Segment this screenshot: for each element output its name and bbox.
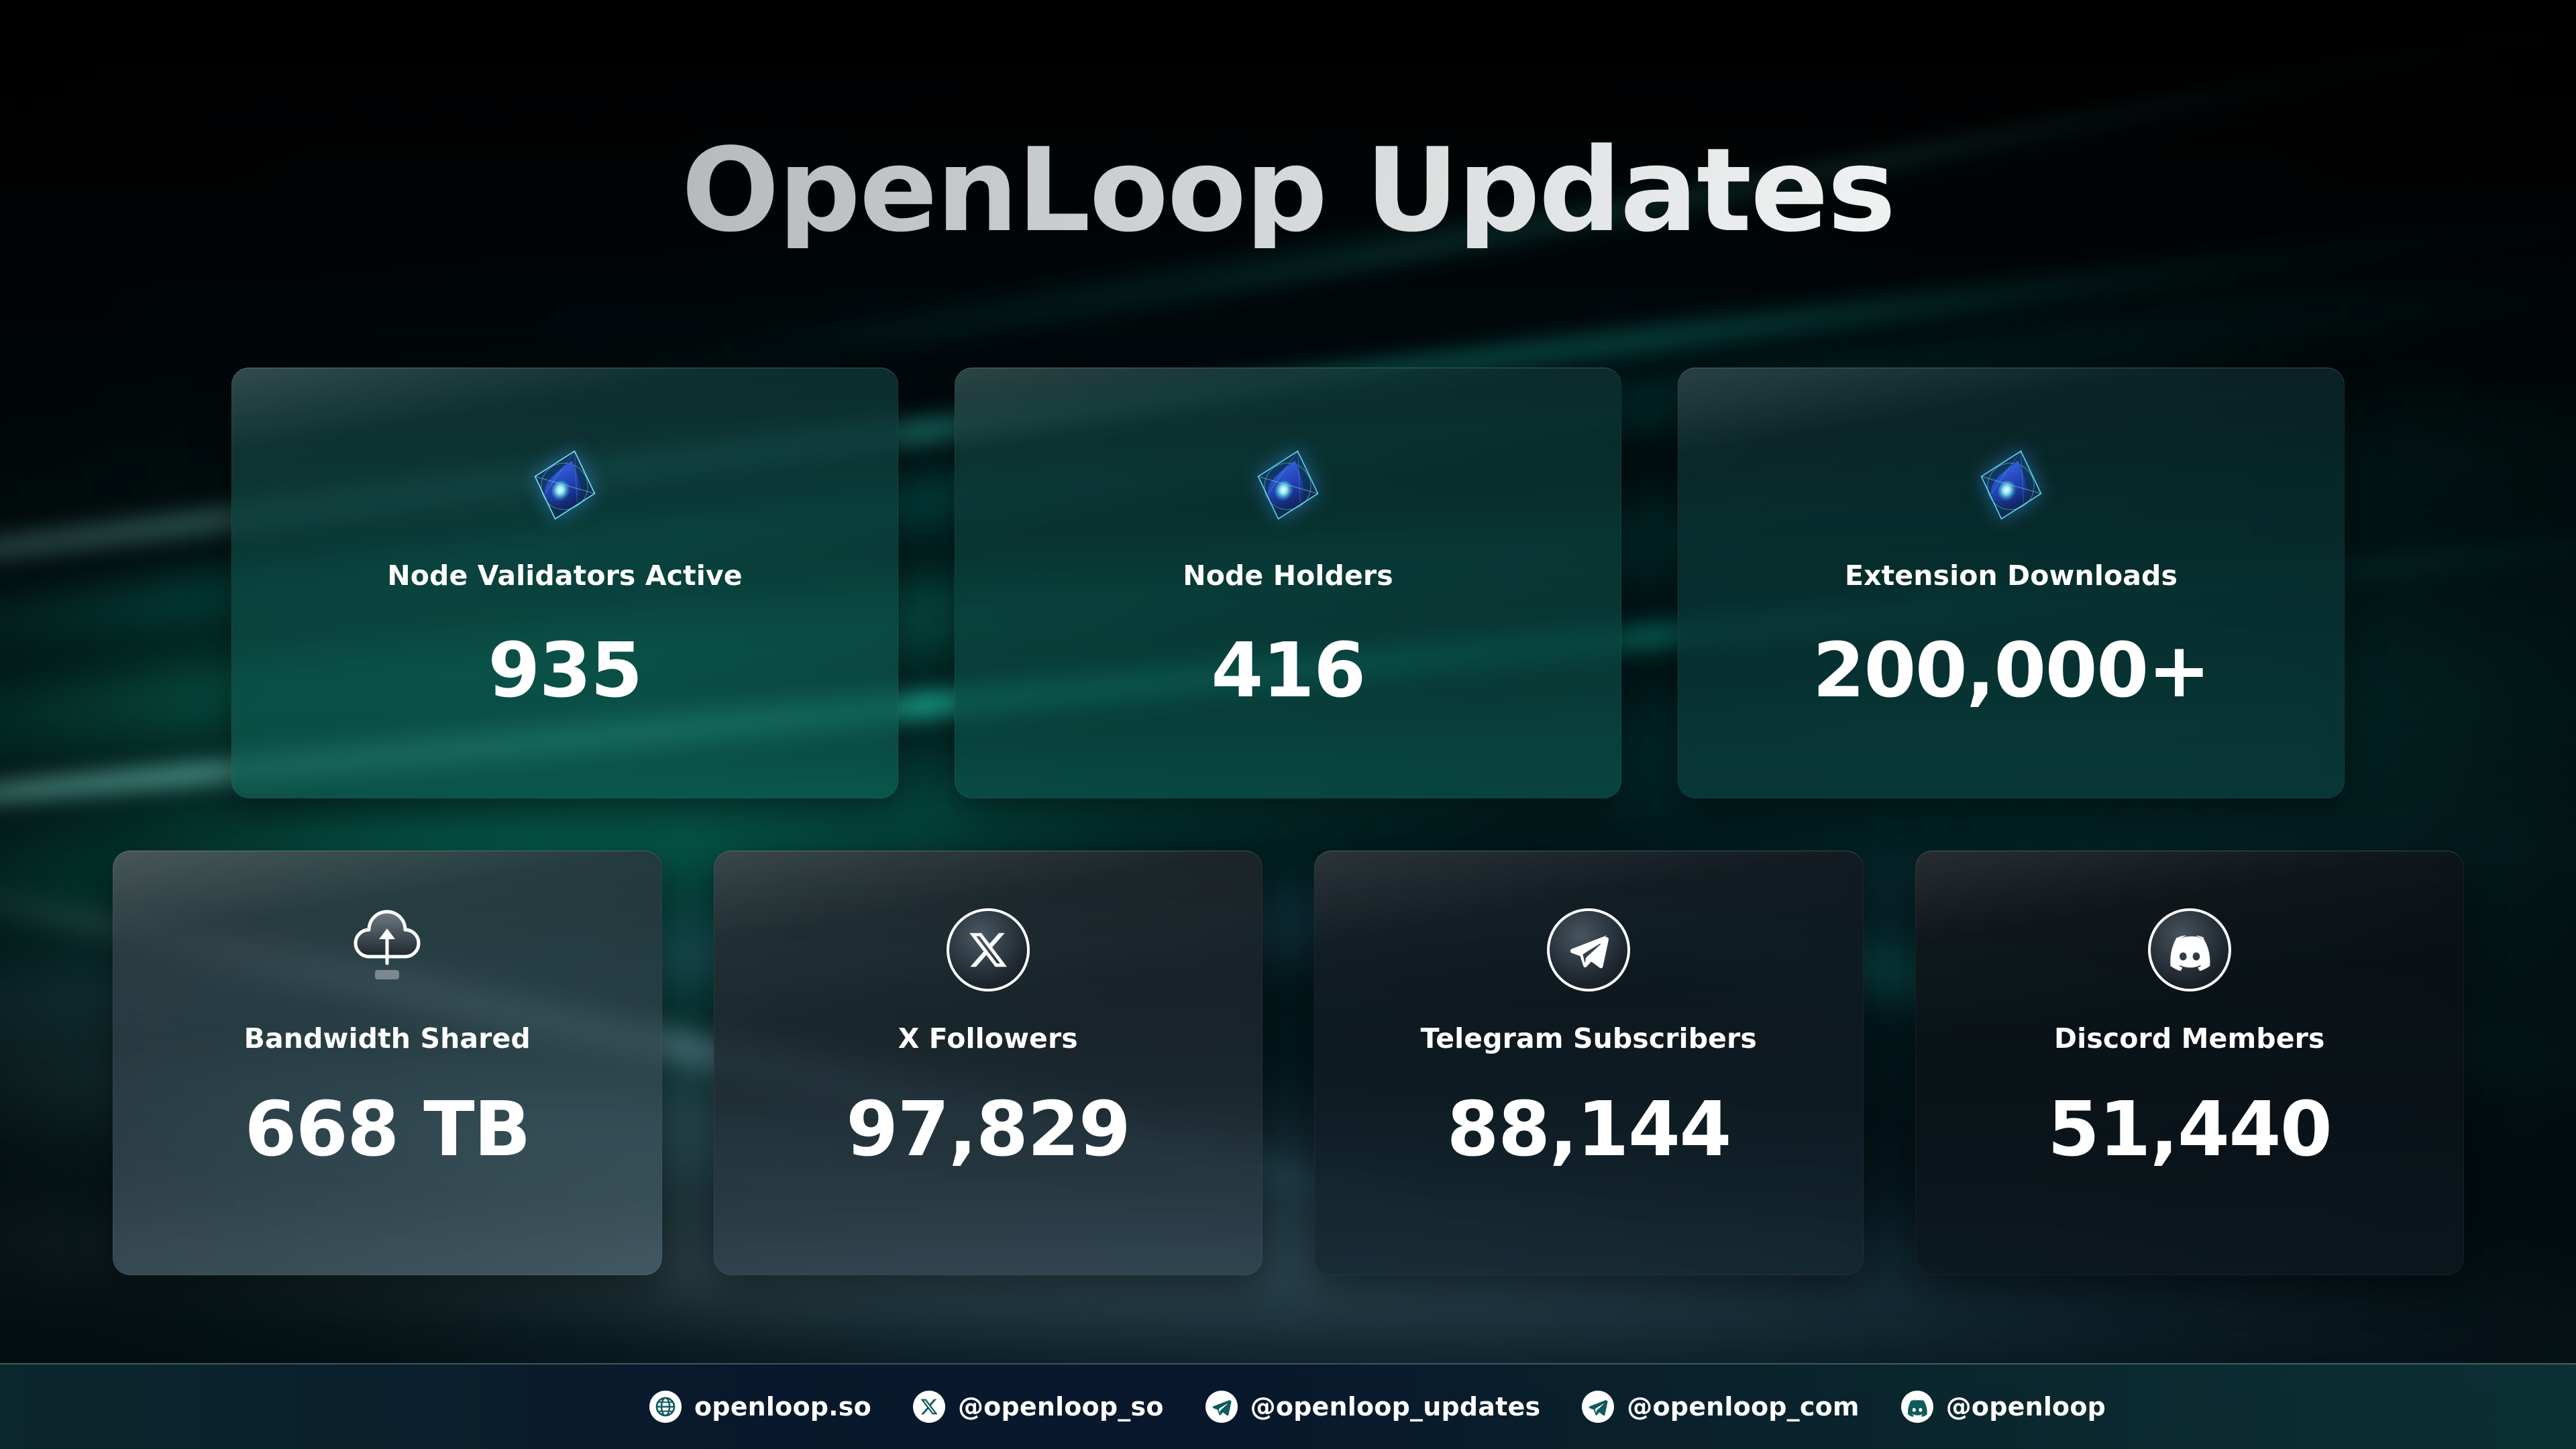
x-logo-icon <box>913 1391 945 1423</box>
x-logo-icon <box>947 906 1030 994</box>
footer-link-telegram-com[interactable]: @openloop_com <box>1582 1391 1859 1423</box>
stat-card-node-validators-active[interactable]: Node Validators Active 935 <box>231 368 898 798</box>
stat-card-value: 51,440 <box>2047 1092 2331 1167</box>
footer-link-label: @openloop_com <box>1627 1392 1859 1421</box>
stat-card-label: X Followers <box>898 1022 1078 1055</box>
stat-card-value: 97,829 <box>846 1092 1130 1167</box>
telegram-icon <box>1582 1391 1614 1423</box>
stats-banner: OpenLoop Updates <box>0 0 2576 1449</box>
footer-link-label: @openloop_so <box>958 1392 1164 1421</box>
stat-card-discord-members[interactable]: Discord Members 51,440 <box>1915 851 2465 1275</box>
gem-diamond-icon <box>1969 443 2053 527</box>
telegram-icon <box>1547 906 1630 994</box>
telegram-icon <box>1205 1391 1238 1423</box>
gem-diamond-icon <box>523 443 607 527</box>
footer-bar: openloop.so @openloop_so @openloop_updat… <box>0 1363 2576 1449</box>
stat-card-label: Extension Downloads <box>1845 559 2178 592</box>
globe-icon <box>649 1391 682 1423</box>
footer-link-discord[interactable]: @openloop <box>1901 1391 2106 1423</box>
stats-row-primary: Node Validators Active 935 <box>231 368 2345 798</box>
stat-card-value: 935 <box>488 633 641 708</box>
stat-card-extension-downloads[interactable]: Extension Downloads 200,000+ <box>1678 368 2345 798</box>
stat-card-value: 416 <box>1211 633 1364 708</box>
stat-card-label: Node Validators Active <box>387 559 742 592</box>
footer-links: openloop.so @openloop_so @openloop_updat… <box>649 1391 2106 1423</box>
footer-link-label: openloop.so <box>694 1392 871 1421</box>
footer-link-label: @openloop_updates <box>1250 1392 1541 1421</box>
footer-link-telegram-updates[interactable]: @openloop_updates <box>1205 1391 1541 1423</box>
stat-card-label: Bandwidth Shared <box>244 1022 531 1055</box>
stat-card-node-holders[interactable]: Node Holders 416 <box>955 368 1621 798</box>
footer-link-website[interactable]: openloop.so <box>649 1391 871 1423</box>
stat-card-value: 88,144 <box>1447 1092 1731 1167</box>
stat-card-telegram-subscribers[interactable]: Telegram Subscribers 88,144 <box>1314 851 1864 1275</box>
discord-icon <box>1901 1391 1933 1423</box>
stat-card-label: Node Holders <box>1183 559 1393 592</box>
stat-card-value: 200,000+ <box>1813 633 2210 708</box>
stat-card-x-followers[interactable]: X Followers 97,829 <box>714 851 1263 1275</box>
stats-row-social: Bandwidth Shared 668 TB X Followers 97,8… <box>113 851 2464 1275</box>
stat-card-label: Telegram Subscribers <box>1421 1022 1757 1055</box>
cloud-upload-icon <box>341 906 433 994</box>
footer-link-x[interactable]: @openloop_so <box>913 1391 1164 1423</box>
gem-diamond-icon <box>1246 443 1330 527</box>
stat-card-bandwidth-shared[interactable]: Bandwidth Shared 668 TB <box>113 851 662 1275</box>
stat-card-label: Discord Members <box>2054 1022 2324 1055</box>
discord-icon <box>2148 906 2231 994</box>
footer-link-label: @openloop <box>1946 1392 2106 1421</box>
stat-card-value: 668 TB <box>244 1092 530 1167</box>
page-title: OpenLoop Updates <box>0 133 2576 248</box>
